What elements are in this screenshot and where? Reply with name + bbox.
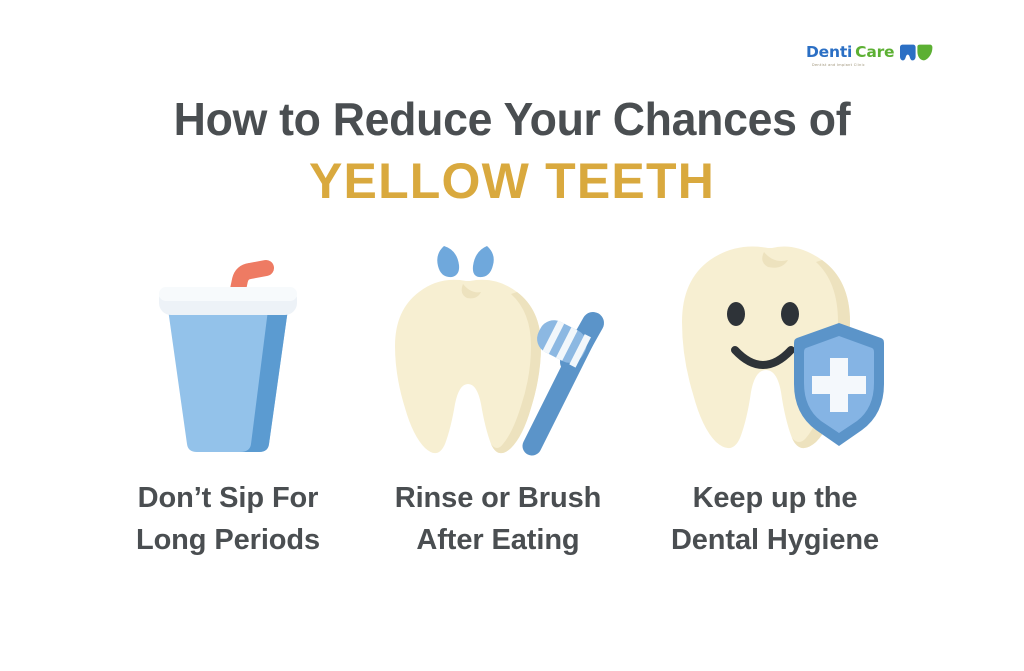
page-subtitle: YELLOW TEETH bbox=[0, 152, 1024, 210]
tip-1-caption: Don’t Sip For Long Periods bbox=[136, 478, 320, 562]
infographic-canvas: Denti Care Dentist and Implant Clinic Ho… bbox=[0, 0, 1024, 671]
logo-tooth-leaf-mark bbox=[899, 44, 933, 61]
tip-3-caption: Keep up the Dental Hygiene bbox=[671, 478, 879, 562]
droplet-right bbox=[473, 246, 494, 277]
denticare-logo[interactable]: Denti Care Dentist and Implant Clinic bbox=[806, 44, 931, 78]
tip-2-caption: Rinse or Brush After Eating bbox=[395, 478, 601, 562]
eye-left bbox=[727, 302, 745, 326]
soda-cup-with-straw-icon bbox=[128, 230, 328, 460]
logo-wordmark-row: Denti Care bbox=[806, 44, 933, 61]
eye-right bbox=[781, 302, 799, 326]
tip-card-rinse-or-brush: Rinse or Brush After Eating bbox=[348, 230, 648, 560]
tip-1-artwork bbox=[128, 230, 328, 460]
logo-word-care: Care bbox=[855, 45, 894, 61]
smiling-tooth-with-shield-icon bbox=[660, 230, 890, 460]
tip-card-dental-hygiene: Keep up the Dental Hygiene bbox=[625, 230, 925, 560]
tip-card-dont-sip: Don’t Sip For Long Periods bbox=[78, 230, 378, 560]
page-title: How to Reduce Your Chances of bbox=[15, 92, 1008, 146]
tip-3-artwork bbox=[660, 230, 890, 460]
tip-2-artwork bbox=[383, 230, 613, 460]
logo-tagline: Dentist and Implant Clinic bbox=[812, 63, 865, 67]
logo-word-denti: Denti bbox=[806, 45, 852, 61]
tooth-with-toothbrush-icon bbox=[383, 230, 613, 460]
droplet-left bbox=[437, 246, 459, 277]
